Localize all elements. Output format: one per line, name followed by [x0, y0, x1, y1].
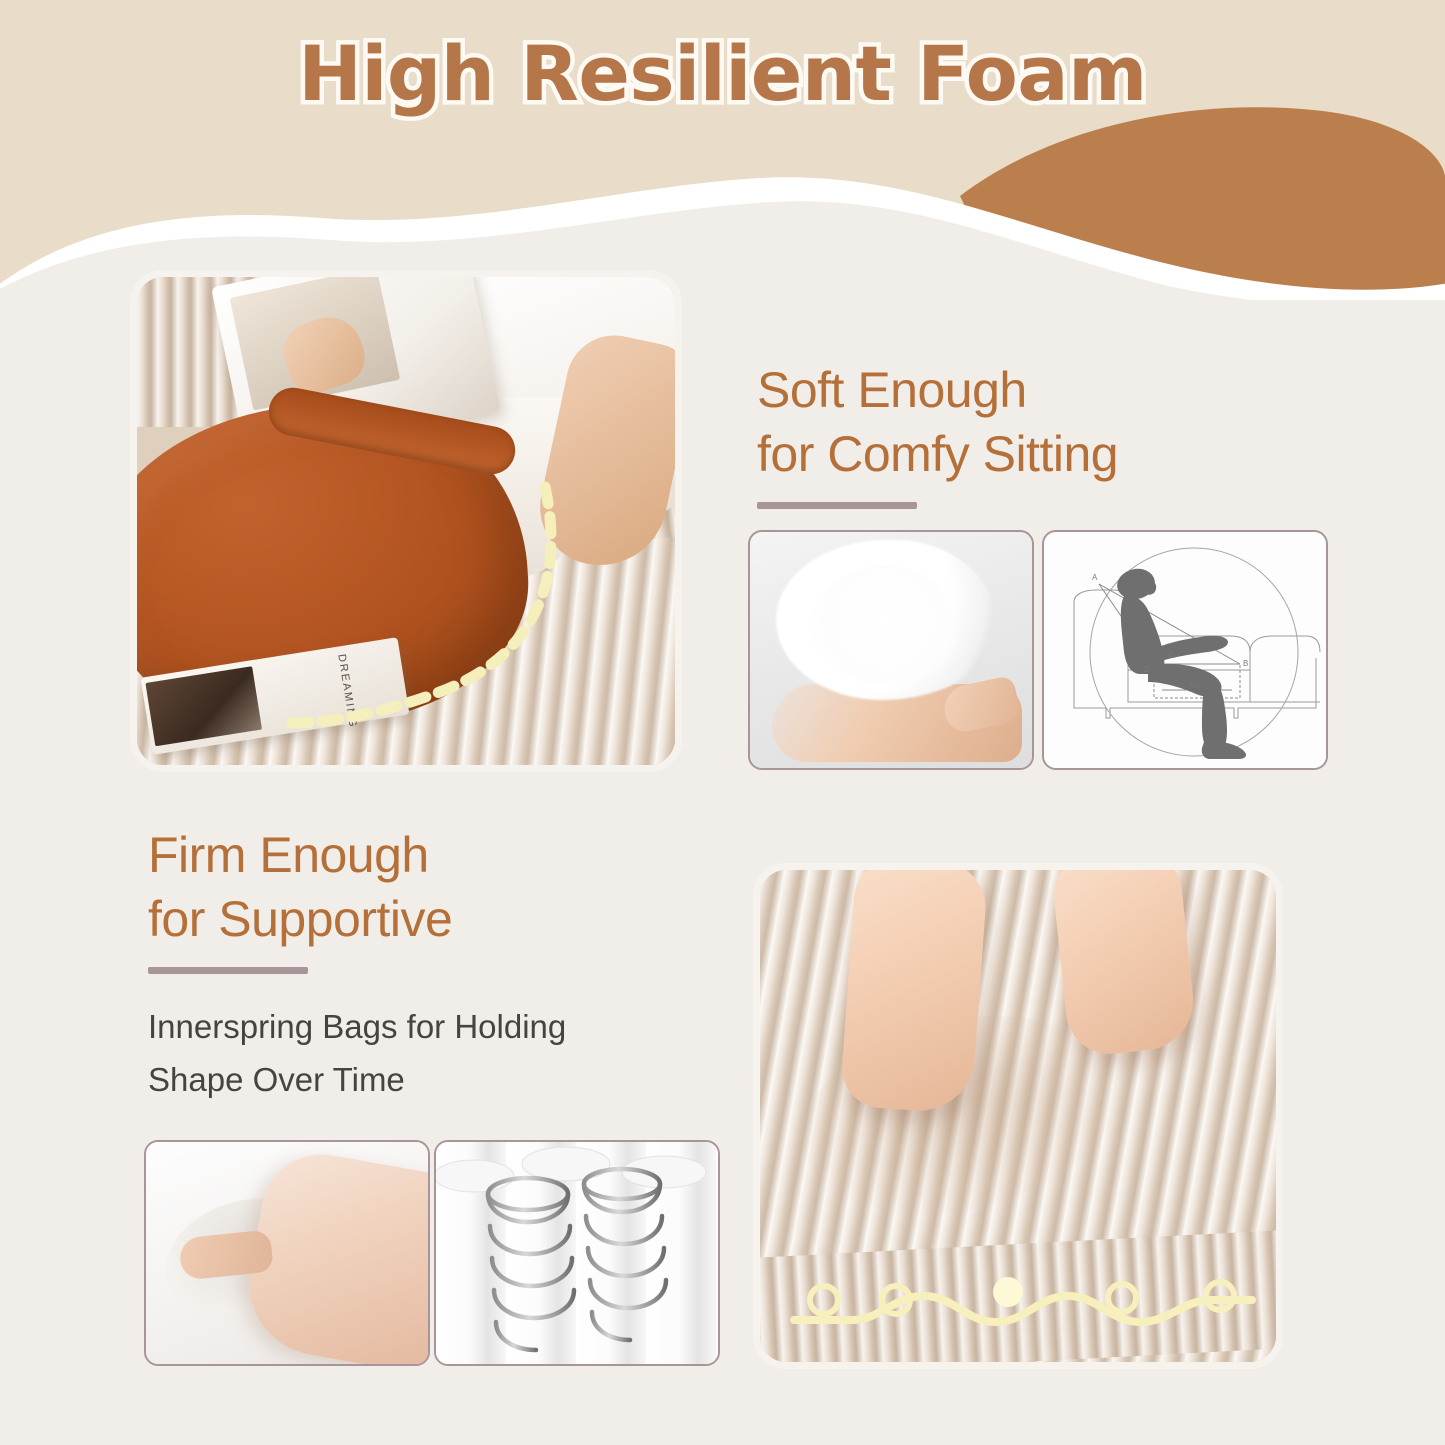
label-50: 50: [1190, 681, 1199, 690]
photo-background: DREAMING: [137, 277, 675, 765]
ergonomic-background: A B C D 50: [1044, 532, 1326, 768]
label-d: D: [1144, 665, 1150, 674]
magazine-cover-photo: [145, 666, 262, 746]
page-title: High Resilient Foam: [0, 26, 1445, 121]
wave-circle-1: [810, 1286, 838, 1314]
firm-heading-rule: [148, 967, 308, 974]
fiberfill-background: [750, 532, 1032, 768]
right-foot: [1050, 870, 1198, 1058]
cushion-texture: [760, 870, 1276, 1362]
soft-enough-section: Soft Enough for Comfy Sitting: [757, 358, 1317, 509]
label-c: C: [1168, 651, 1174, 660]
label-a: A: [1092, 573, 1098, 582]
pocket-coil-springs-image: [434, 1140, 720, 1366]
wave-circle-filled: [993, 1277, 1023, 1307]
springs-background: [436, 1142, 718, 1364]
ergonomic-sitting-diagram-icon: A B C D 50: [1044, 532, 1326, 768]
label-b: B: [1243, 659, 1248, 668]
hand-pressing-foam-image: [144, 1140, 430, 1366]
coil-spring-icon: [436, 1142, 718, 1364]
person-reading-photo: DREAMING: [137, 277, 675, 765]
magazine-title: DREAMING: [335, 653, 359, 729]
soft-heading: Soft Enough for Comfy Sitting: [757, 358, 1317, 486]
firm-heading: Firm Enough for Supportive: [148, 823, 708, 951]
fiber-fill-cloud-highlight: [810, 566, 960, 686]
firm-subtext: Innerspring Bags for Holding Shape Over …: [148, 1000, 708, 1107]
firm-enough-section: Firm Enough for Supportive Innerspring B…: [148, 823, 708, 1107]
left-foot: [839, 870, 988, 1114]
soft-heading-rule: [757, 502, 917, 509]
feet-on-cushion-photo: [760, 870, 1276, 1362]
spring-response-wave-icon: [760, 1234, 1276, 1344]
fiberfill-in-hand-image: [748, 530, 1034, 770]
ergonomic-diagram-image: A B C D 50: [1042, 530, 1328, 770]
wave-circle-4: [1108, 1284, 1136, 1312]
foam-background: [146, 1142, 428, 1364]
